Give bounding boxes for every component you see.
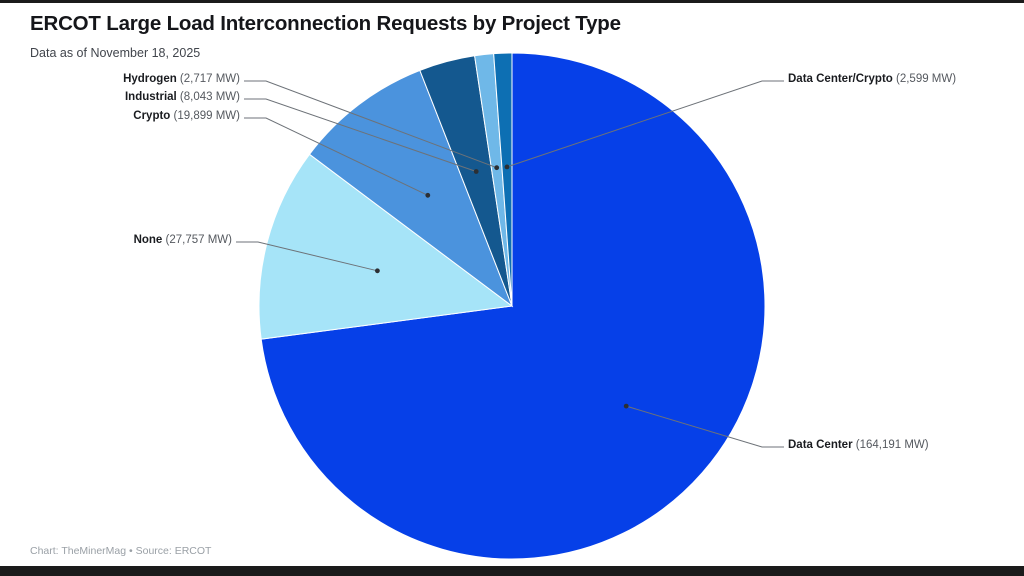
leader-anchor-dot (425, 193, 430, 198)
slice-value: (2,599 MW) (893, 73, 956, 85)
slice-callout: Hydrogen (2,717 MW) (123, 73, 240, 85)
leader-anchor-dot (375, 268, 380, 273)
slice-callout: Data Center/Crypto (2,599 MW) (788, 73, 956, 85)
pie-slice-group (259, 53, 765, 559)
slice-value: (164,191 MW) (853, 439, 929, 451)
slice-callout: Crypto (19,899 MW) (133, 110, 240, 122)
slice-value: (2,717 MW) (177, 73, 240, 85)
pie-chart (0, 0, 1024, 576)
chart-credit: Chart: TheMinerMag • Source: ERCOT (30, 545, 211, 557)
slice-label: Industrial (125, 91, 177, 103)
slice-label: Data Center (788, 439, 853, 451)
slice-callout: Industrial (8,043 MW) (125, 91, 240, 103)
slice-label: Crypto (133, 110, 170, 122)
slice-value: (27,757 MW) (162, 234, 232, 246)
slice-value: (8,043 MW) (177, 91, 240, 103)
slice-label: Hydrogen (123, 73, 177, 85)
slice-label: None (134, 234, 163, 246)
leader-anchor-dot (474, 169, 479, 174)
slice-callout: None (27,757 MW) (134, 234, 232, 246)
leader-anchor-dot (624, 404, 629, 409)
slice-callout: Data Center (164,191 MW) (788, 439, 929, 451)
chart-canvas: ERCOT Large Load Interconnection Request… (0, 0, 1024, 576)
leader-anchor-dot (494, 165, 499, 170)
slice-label: Data Center/Crypto (788, 73, 893, 85)
letterbox-bottom (0, 566, 1024, 576)
leader-anchor-dot (505, 165, 510, 170)
slice-value: (19,899 MW) (170, 110, 240, 122)
